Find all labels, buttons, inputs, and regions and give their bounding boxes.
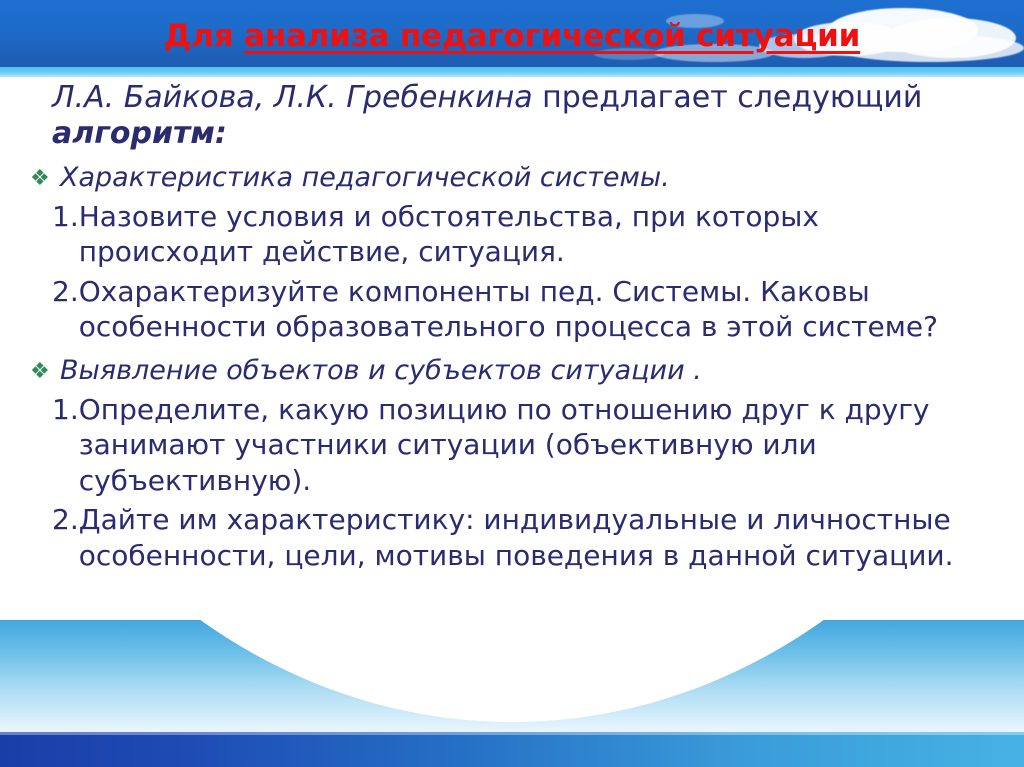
slide: Для анализа педагогической ситуации Л.А.… bbox=[0, 0, 1024, 767]
lead-paragraph: Л.А. Байкова, Л.К. Гребенкина предлагает… bbox=[0, 80, 1024, 152]
list-item: 1. Назовите условия и обстоятельства, пр… bbox=[0, 199, 1024, 270]
list-item: ❖ Выявление объектов и субъектов ситуаци… bbox=[0, 354, 1024, 388]
bottom-bar-highlight bbox=[0, 732, 1024, 735]
item-text: Назовите условия и обстоятельства, при к… bbox=[79, 199, 996, 270]
bottom-color-bar bbox=[0, 732, 1024, 767]
bullet-heading-text: Выявление объектов и субъектов ситуации … bbox=[60, 354, 994, 388]
title-prefix: Для bbox=[164, 18, 244, 54]
item-text: Дайте им характеристику: индивидуальные … bbox=[79, 502, 996, 573]
list-item: ❖ Характеристика педагогической системы. bbox=[0, 161, 1024, 195]
item-number: 2. bbox=[52, 274, 79, 310]
diamond-bullet-icon: ❖ bbox=[30, 161, 60, 193]
slide-body: Л.А. Байкова, Л.К. Гребенкина предлагает… bbox=[0, 80, 1024, 573]
item-number: 1. bbox=[52, 199, 79, 235]
item-number: 2. bbox=[52, 502, 79, 538]
list-item: 2. Дайте им характеристику: индивидуальн… bbox=[0, 502, 1024, 573]
title-underlined: анализа педагогической ситуации bbox=[244, 18, 860, 54]
lead-emphasis: алгоритм: bbox=[52, 116, 227, 151]
item-text: Определите, какую позицию по отношению д… bbox=[79, 392, 996, 499]
lead-middle: предлагает следующий bbox=[533, 80, 923, 115]
item-text: Охарактеризуйте компоненты пед. Системы.… bbox=[79, 274, 996, 345]
list-item: 1. Определите, какую позицию по отношени… bbox=[0, 392, 1024, 499]
page-title: Для анализа педагогической ситуации bbox=[0, 18, 1024, 54]
item-number: 1. bbox=[52, 392, 79, 428]
diamond-bullet-icon: ❖ bbox=[30, 354, 60, 386]
lead-authors: Л.А. Байкова, Л.К. Гребенкина bbox=[52, 80, 533, 115]
list-item: 2. Охарактеризуйте компоненты пед. Систе… bbox=[0, 274, 1024, 345]
header-accent-strip bbox=[0, 67, 1024, 77]
bullet-heading-text: Характеристика педагогической системы. bbox=[60, 161, 994, 195]
